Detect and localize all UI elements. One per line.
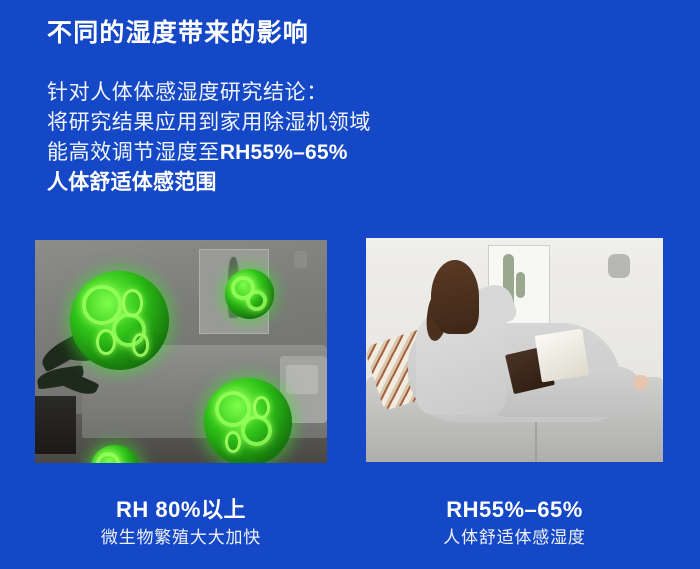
microbe-icon: [225, 269, 275, 319]
wall-speaker: [608, 254, 630, 278]
microbe-icon: [204, 378, 292, 463]
plant-pot: [35, 396, 76, 454]
bright-living-room-scene: [366, 238, 663, 462]
body-copy: 针对人体体感湿度研究结论： 将研究结果应用到家用除湿机领域 能高效调节湿度至RH…: [47, 78, 371, 198]
caption-right-main: RH55%–65%: [366, 496, 663, 523]
photo-comfortable-woman: [366, 238, 663, 462]
body-line-4: 人体舒适体感范围: [47, 168, 371, 198]
dim-living-room-scene: [35, 240, 327, 463]
body-line-1: 针对人体体感湿度研究结论：: [47, 78, 371, 108]
sofa-pillow: [286, 365, 318, 394]
woman-hair: [431, 260, 479, 334]
wall-lamp: [294, 251, 307, 268]
caption-right-sub: 人体舒适体感湿度: [366, 527, 663, 549]
caption-left: RH 80%以上 微生物繁殖大大加快: [35, 496, 327, 549]
body-line-2: 将研究结果应用到家用除湿机领域: [47, 108, 371, 138]
caption-left-sub: 微生物繁殖大大加快: [35, 527, 327, 549]
microbe-icon: [70, 271, 169, 370]
photo-microbes: [35, 240, 327, 463]
cactus-arm: [516, 272, 525, 299]
humidity-infographic-page: 不同的湿度带来的影响 针对人体体感湿度研究结论： 将研究结果应用到家用除湿机领域…: [0, 0, 700, 569]
body-line-3-normal: 能高效调节湿度至: [47, 141, 220, 164]
woman-foot: [633, 375, 648, 391]
caption-right: RH55%–65% 人体舒适体感湿度: [366, 496, 663, 549]
caption-left-main: RH 80%以上: [35, 496, 327, 523]
body-line-3-highlight: RH55%–65%: [220, 141, 348, 164]
page-title: 不同的湿度带来的影响: [47, 16, 309, 50]
body-line-3: 能高效调节湿度至RH55%–65%: [47, 138, 371, 168]
book-pages: [535, 329, 589, 383]
